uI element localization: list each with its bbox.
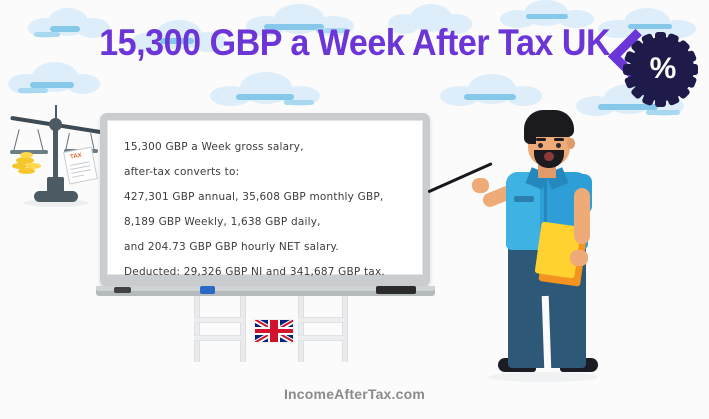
site-watermark: IncomeAfterTax.com (0, 386, 709, 402)
black-marker-icon (114, 287, 131, 293)
balance-scale-icon: TAX (4, 103, 108, 211)
page-title: 15,300 GBP a Week After Tax UK (99, 22, 610, 64)
percent-badge-icon: % (624, 33, 696, 105)
whiteboard-surface: 15,300 GBP a Week gross salary, after-ta… (107, 120, 423, 275)
whiteboard-line: 8,189 GBP Weekly, 1,638 GBP daily, (124, 210, 412, 235)
whiteboard-line: 427,301 GBP annual, 35,608 GBP monthly G… (124, 185, 412, 210)
whiteboard-line: and 204.73 GBP GBP hourly NET salary. (124, 235, 412, 260)
page-title-wrapper: 15,300 GBP a Week After Tax UK (0, 22, 709, 64)
blue-marker-icon (200, 286, 215, 294)
whiteboard-line: Deducted: 29,326 GBP NI and 341,687 GBP … (124, 260, 412, 285)
uk-flag-icon (255, 320, 293, 342)
whiteboard: 15,300 GBP a Week gross salary, after-ta… (100, 113, 430, 287)
whiteboard-line: after-tax converts to: (124, 160, 412, 185)
cloud-decoration (210, 72, 322, 108)
tax-doc-label: TAX (70, 153, 82, 161)
cloud-decoration (8, 62, 102, 96)
percent-glyph: % (630, 37, 694, 101)
teacher-illustration (470, 100, 640, 390)
infographic-canvas: 15,300 GBP a Week After Tax UK % (0, 0, 709, 419)
whiteboard-text: 15,300 GBP a Week gross salary, after-ta… (124, 135, 412, 285)
eraser-icon (376, 286, 416, 294)
whiteboard-line: 15,300 GBP a Week gross salary, (124, 135, 412, 160)
tax-document-icon: TAX (63, 147, 98, 185)
